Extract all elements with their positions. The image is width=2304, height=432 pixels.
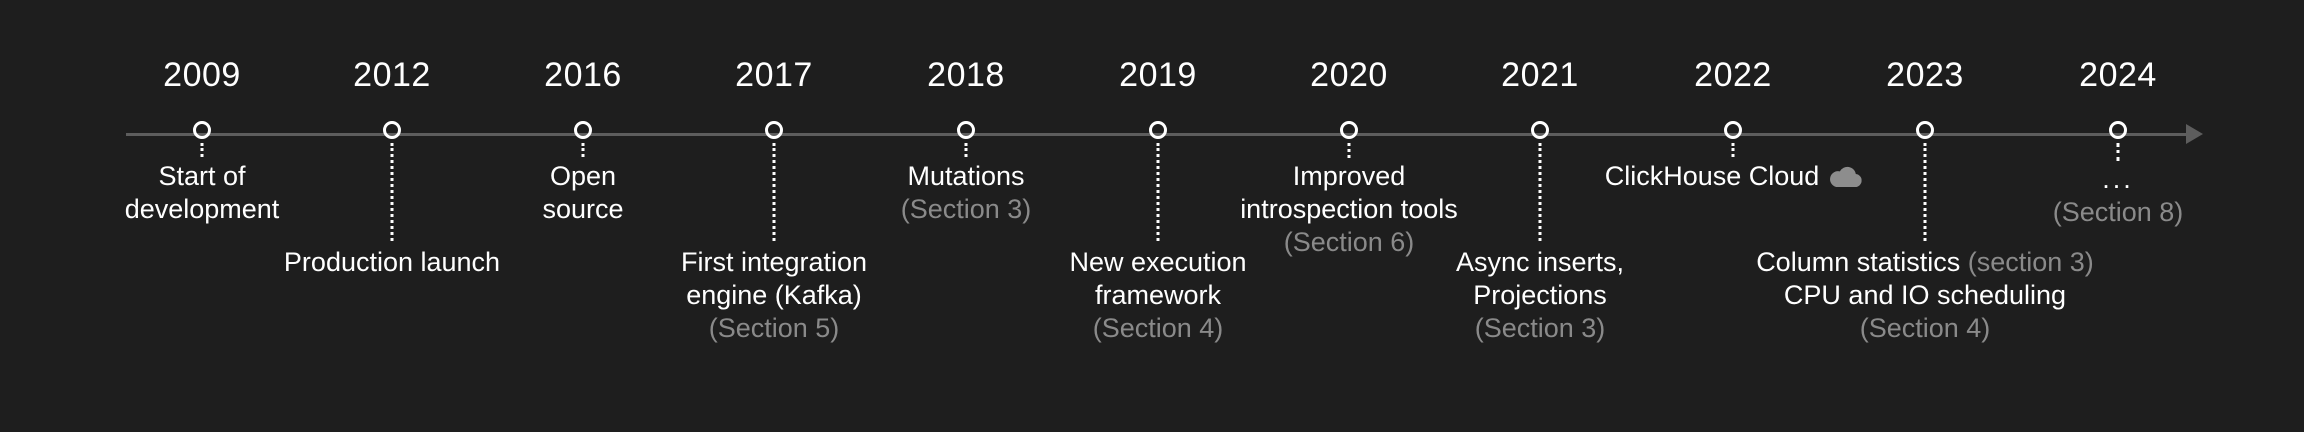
- event-section-label: (Section 5): [681, 312, 867, 345]
- event-label-line: Open: [542, 160, 623, 193]
- timeline-arrow-icon: [2186, 124, 2203, 144]
- event-label-text: introspection tools: [1240, 194, 1458, 224]
- connector-line: [1924, 143, 1927, 241]
- event-label-line: introspection tools: [1240, 193, 1458, 226]
- event-label-text: Column statistics: [1756, 247, 1968, 277]
- event-label-text: ClickHouse Cloud: [1605, 161, 1820, 191]
- event-label-text: source: [542, 194, 623, 224]
- event-label-text: Async inserts,: [1456, 247, 1624, 277]
- event-label-text: Production launch: [284, 247, 500, 277]
- event-label-line: Improved: [1240, 160, 1458, 193]
- event-label-text: development: [125, 194, 280, 224]
- connector-line: [1157, 143, 1160, 241]
- event-section-inline: (section 3): [1968, 247, 2094, 277]
- event-label: Mutations(Section 3): [901, 160, 1032, 226]
- event-label-line: Mutations: [901, 160, 1032, 193]
- connector-line: [201, 143, 204, 157]
- event-label-line: Start of: [125, 160, 280, 193]
- event-label-line: Projections: [1456, 279, 1624, 312]
- year-label: 2009: [163, 58, 241, 92]
- event-label-text: First integration: [681, 247, 867, 277]
- year-label: 2022: [1694, 58, 1772, 92]
- event-label: Improvedintrospection tools(Section 6): [1240, 160, 1458, 259]
- event-label-line: source: [542, 193, 623, 226]
- connector-line: [391, 143, 394, 241]
- timeline-marker-circle-icon: [193, 121, 211, 139]
- event-label-line: CPU and IO scheduling: [1756, 279, 2094, 312]
- event-label: ...(Section 8): [2053, 163, 2184, 229]
- year-label: 2017: [735, 58, 813, 92]
- event-label-line: engine (Kafka): [681, 279, 867, 312]
- event-label-text: Open: [550, 161, 616, 191]
- event-label: ClickHouse Cloud: [1605, 160, 1862, 193]
- year-label: 2021: [1501, 58, 1579, 92]
- connector-line: [773, 143, 776, 241]
- event-label: First integrationengine (Kafka)(Section …: [681, 246, 867, 345]
- timeline-marker-circle-icon: [1340, 121, 1358, 139]
- connector-line: [2117, 143, 2120, 161]
- timeline-marker-circle-icon: [2109, 121, 2127, 139]
- year-label: 2023: [1886, 58, 1964, 92]
- timeline-marker-circle-icon: [1531, 121, 1549, 139]
- year-label: 2020: [1310, 58, 1388, 92]
- event-label-text: Improved: [1293, 161, 1406, 191]
- year-label: 2018: [927, 58, 1005, 92]
- event-label: Column statistics (section 3)CPU and IO …: [1756, 246, 2094, 345]
- event-section-label: (Section 3): [901, 193, 1032, 226]
- event-label-text: Mutations: [907, 161, 1024, 191]
- event-label-text: engine (Kafka): [686, 280, 862, 310]
- event-label-text: ...: [2102, 164, 2134, 194]
- timeline-diagram: 2009Start ofdevelopment2012Production la…: [0, 0, 2304, 432]
- timeline-marker-circle-icon: [765, 121, 783, 139]
- event-section-label: (Section 4): [1069, 312, 1246, 345]
- event-label-text: New execution: [1069, 247, 1246, 277]
- connector-line: [1732, 143, 1735, 157]
- event-label-line: Async inserts,: [1456, 246, 1624, 279]
- year-label: 2016: [544, 58, 622, 92]
- event-label-text: Start of: [158, 161, 245, 191]
- event-label: Start ofdevelopment: [125, 160, 280, 226]
- event-label-line: development: [125, 193, 280, 226]
- year-label: 2012: [353, 58, 431, 92]
- event-label-text: CPU and IO scheduling: [1784, 280, 2066, 310]
- event-label-line: ClickHouse Cloud: [1605, 160, 1862, 193]
- timeline-marker-circle-icon: [1149, 121, 1167, 139]
- cloud-icon: [1827, 165, 1861, 189]
- event-label-line: Column statistics (section 3): [1756, 246, 2094, 279]
- event-section-label: (Section 3): [1456, 312, 1624, 345]
- event-label-line: framework: [1069, 279, 1246, 312]
- year-label: 2019: [1119, 58, 1197, 92]
- event-label: New executionframework(Section 4): [1069, 246, 1246, 345]
- event-label: Production launch: [284, 246, 500, 279]
- timeline-marker-circle-icon: [574, 121, 592, 139]
- event-label-line: Production launch: [284, 246, 500, 279]
- event-section-label: (Section 4): [1756, 312, 2094, 345]
- timeline-marker-circle-icon: [383, 121, 401, 139]
- event-label-line: First integration: [681, 246, 867, 279]
- event-label: Async inserts,Projections(Section 3): [1456, 246, 1624, 345]
- event-label-line: ...: [2053, 163, 2184, 196]
- timeline-marker-circle-icon: [1916, 121, 1934, 139]
- event-label-text: framework: [1095, 280, 1221, 310]
- timeline-marker-circle-icon: [957, 121, 975, 139]
- event-label: Opensource: [542, 160, 623, 226]
- year-label: 2024: [2079, 58, 2157, 92]
- connector-line: [582, 143, 585, 157]
- event-label-text: Projections: [1473, 280, 1607, 310]
- connector-line: [965, 143, 968, 157]
- timeline-marker-circle-icon: [1724, 121, 1742, 139]
- event-section-label: (Section 8): [2053, 196, 2184, 229]
- connector-line: [1348, 143, 1351, 158]
- connector-line: [1539, 143, 1542, 241]
- event-section-label: (Section 6): [1240, 226, 1458, 259]
- event-label-line: New execution: [1069, 246, 1246, 279]
